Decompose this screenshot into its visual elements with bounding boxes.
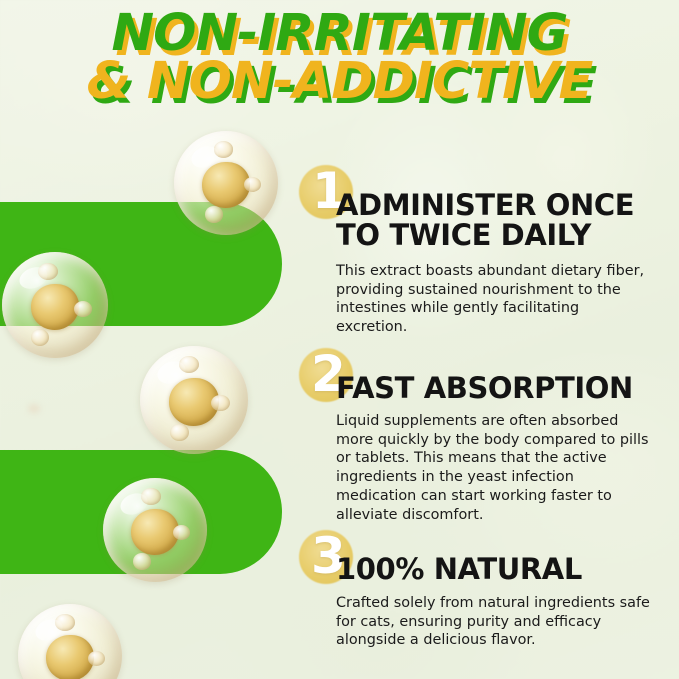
bubble-droplet bbox=[74, 301, 92, 317]
bubble-droplet bbox=[205, 206, 223, 223]
headline-line-2: & NON-ADDICTIVE bbox=[0, 56, 679, 108]
gold-serum-bubble bbox=[174, 131, 278, 235]
bubble-gold-core bbox=[131, 509, 179, 555]
headline-block: NON-IRRITATING & NON-ADDICTIVE bbox=[0, 8, 679, 108]
bubble-gold-core bbox=[46, 635, 94, 679]
feature-title-1: ADMINISTER ONCE TO TWICE DAILY bbox=[336, 190, 666, 250]
feature-body-3: Crafted solely from natural ingredients … bbox=[336, 594, 654, 650]
bubble-droplet bbox=[31, 329, 49, 346]
feature-title-3: 100% NATURAL bbox=[336, 554, 666, 584]
product-infographic-poster: NON-IRRITATING & NON-ADDICTIVE 1 ADMINIS… bbox=[0, 0, 679, 679]
bubble-gold-core bbox=[202, 162, 250, 208]
gold-serum-bubble bbox=[140, 346, 248, 454]
bubble-droplet bbox=[133, 553, 151, 570]
feature-title-2: FAST ABSORPTION bbox=[336, 373, 676, 403]
gold-serum-bubble bbox=[103, 478, 207, 582]
bubble-droplet bbox=[170, 424, 188, 441]
feature-body-2: Liquid supplements are often absorbed mo… bbox=[336, 412, 654, 524]
feature-body-1: This extract boasts abundant dietary fib… bbox=[336, 262, 654, 337]
bubble-droplet bbox=[211, 395, 229, 411]
gold-serum-bubble bbox=[2, 252, 108, 358]
